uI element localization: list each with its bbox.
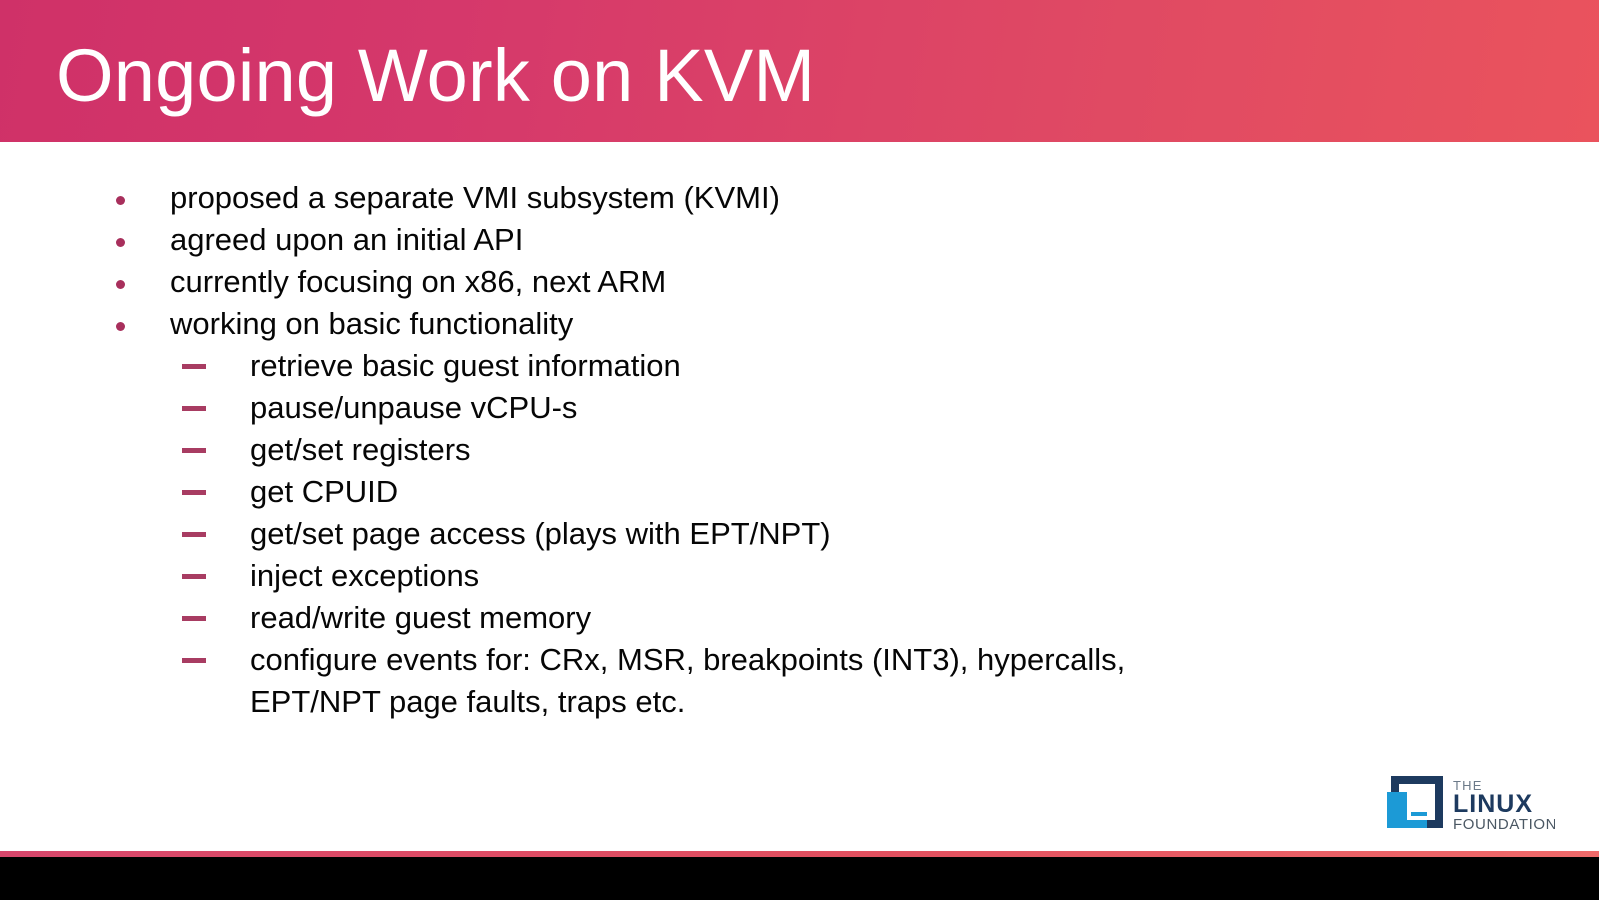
sub-bullet-text: get/set registers (250, 429, 1260, 471)
bullet-list: proposed a separate VMI subsystem (KVMI)… (0, 177, 1450, 723)
sub-bullet-item: configure events for: CRx, MSR, breakpoi… (170, 639, 1450, 723)
slide-body: proposed a separate VMI subsystem (KVMI)… (0, 142, 1599, 851)
bullet-text: proposed a separate VMI subsystem (KVMI) (170, 177, 1450, 219)
sub-bullet-item: get/set page access (plays with EPT/NPT) (170, 513, 1450, 555)
bullet-item: working on basic functionalityretrieve b… (0, 303, 1450, 723)
logo-mark-icon (1387, 776, 1443, 828)
bullet-dash-icon (182, 532, 206, 537)
sub-bullet-text: get CPUID (250, 471, 1260, 513)
sub-bullet-text: configure events for: CRx, MSR, breakpoi… (250, 639, 1260, 723)
sub-bullet-text: inject exceptions (250, 555, 1260, 597)
page-title: Ongoing Work on KVM (56, 34, 815, 118)
bullet-dash-icon (182, 448, 206, 453)
sub-bullet-text: get/set page access (plays with EPT/NPT) (250, 513, 1260, 555)
sub-bullet-list: retrieve basic guest informationpause/un… (170, 345, 1450, 723)
bullet-dash-icon (182, 658, 206, 663)
bullet-dash-icon (182, 364, 206, 369)
bullet-text: working on basic functionality (170, 303, 1450, 345)
slide-header-band: Ongoing Work on KVM (0, 0, 1599, 142)
sub-bullet-text: read/write guest memory (250, 597, 1260, 639)
bullet-item: currently focusing on x86, next ARM (0, 261, 1450, 303)
bullet-text: currently focusing on x86, next ARM (170, 261, 1450, 303)
sub-bullet-item: read/write guest memory (170, 597, 1450, 639)
bullet-dot-icon (116, 322, 125, 331)
bullet-dot-icon (116, 238, 125, 247)
bullet-text: agreed upon an initial API (170, 219, 1450, 261)
bottom-black-bar (0, 857, 1599, 900)
bullet-dot-icon (116, 280, 125, 289)
logo-text-foundation: FOUNDATION (1453, 816, 1555, 833)
bullet-dot-icon (116, 196, 125, 205)
sub-bullet-text: retrieve basic guest information (250, 345, 1260, 387)
linux-foundation-logo: THE LINUX FOUNDATION (1385, 774, 1555, 834)
logo-text-linux: LINUX (1453, 790, 1533, 818)
sub-bullet-item: pause/unpause vCPU-s (170, 387, 1450, 429)
bullet-dash-icon (182, 406, 206, 411)
sub-bullet-item: get/set registers (170, 429, 1450, 471)
bullet-dash-icon (182, 616, 206, 621)
sub-bullet-item: inject exceptions (170, 555, 1450, 597)
slide-canvas: Ongoing Work on KVM proposed a separate … (0, 0, 1599, 900)
bullet-dash-icon (182, 574, 206, 579)
bullet-item: proposed a separate VMI subsystem (KVMI) (0, 177, 1450, 219)
sub-bullet-item: get CPUID (170, 471, 1450, 513)
bullet-item: agreed upon an initial API (0, 219, 1450, 261)
sub-bullet-text: pause/unpause vCPU-s (250, 387, 1260, 429)
sub-bullet-item: retrieve basic guest information (170, 345, 1450, 387)
bullet-dash-icon (182, 490, 206, 495)
